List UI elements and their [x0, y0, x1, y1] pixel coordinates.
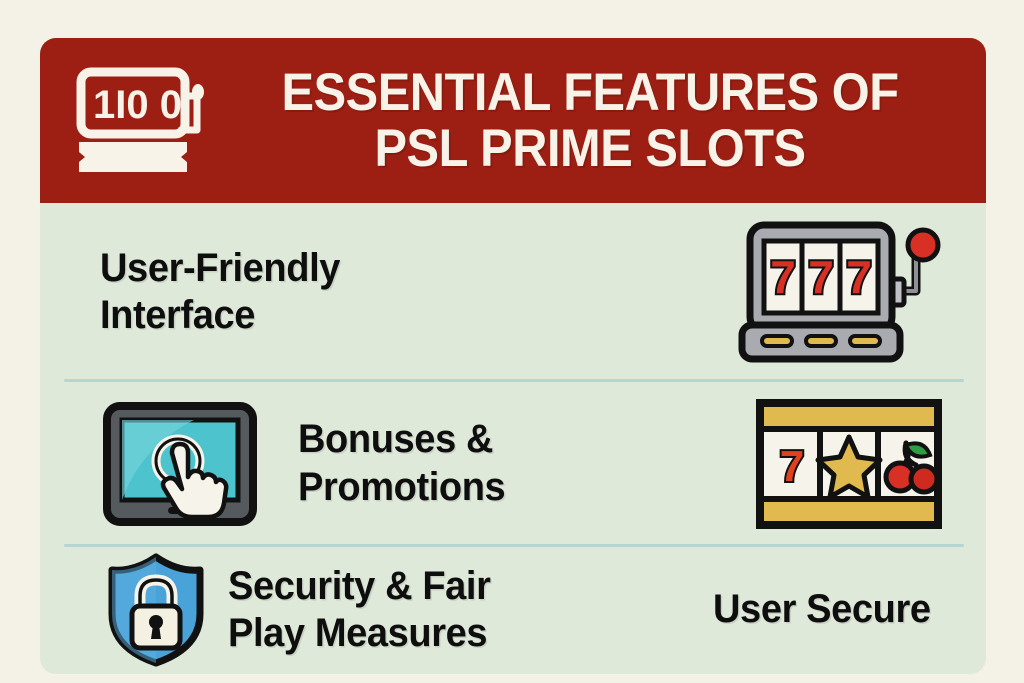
infographic-card: 1I0 0 ESSENTIAL FEATURES OF PSL PRIME SL…	[40, 38, 986, 674]
feature-label-line-2: Promotions	[298, 464, 505, 511]
header-title-line-2: PSL PRIME SLOTS	[249, 121, 932, 176]
feature-label-line-1: User-Friendly	[100, 245, 340, 292]
feature-label-cell: Security & Fair Play Measures	[228, 563, 504, 657]
feature-icon-cell: 7	[754, 397, 944, 531]
feature-secondary-label: User Secure	[713, 586, 931, 633]
features-list: User-Friendly Interface	[40, 203, 986, 674]
feature-label-cell: Bonuses & Promotions	[298, 416, 516, 510]
header-icon-wrapper: 1I0 0	[68, 66, 218, 176]
feature-icon-cell: 7 7 7	[738, 217, 948, 367]
svg-text:7: 7	[808, 251, 834, 303]
svg-text:7: 7	[780, 442, 804, 491]
feature-label-line-2: Play Measures	[228, 610, 491, 657]
tablet-touch-icon	[102, 401, 258, 527]
feature-row-security-fair-play: Security & Fair Play Measures User Secur…	[40, 546, 986, 674]
feature-icon-cell	[102, 401, 258, 527]
feature-label-cell: User-Friendly Interface	[100, 245, 353, 339]
infographic-root: 1I0 0 ESSENTIAL FEATURES OF PSL PRIME SL…	[0, 0, 1024, 683]
header-title-line-1: ESSENTIAL FEATURES OF	[249, 65, 932, 120]
feature-label: Bonuses & Promotions	[298, 416, 505, 510]
slot-machine-outline-icon: 1I0 0	[73, 66, 213, 176]
feature-secondary-label-cell: User Secure	[713, 586, 942, 633]
feature-label-line-1: Bonuses &	[298, 416, 505, 463]
svg-text:7: 7	[770, 251, 796, 303]
slot-machine-777-icon: 7 7 7	[738, 217, 948, 367]
feature-label: Security & Fair Play Measures	[228, 563, 491, 657]
feature-icon-cell	[104, 552, 208, 668]
feature-row-user-friendly-interface: User-Friendly Interface	[40, 203, 986, 381]
slot-reels-icon: 7	[754, 397, 944, 531]
shield-lock-icon	[104, 552, 208, 668]
feature-row-bonuses-promotions: Bonuses & Promotions	[40, 381, 986, 546]
feature-label-line-1: Security & Fair	[228, 563, 491, 610]
header-title: ESSENTIAL FEATURES OF PSL PRIME SLOTS	[249, 65, 956, 175]
feature-label: User-Friendly Interface	[100, 245, 340, 339]
feature-label-line-2: Interface	[100, 292, 340, 339]
svg-text:7: 7	[846, 251, 872, 303]
svg-text:1I0 0: 1I0 0	[93, 83, 182, 127]
header-banner: 1I0 0 ESSENTIAL FEATURES OF PSL PRIME SL…	[40, 38, 986, 203]
